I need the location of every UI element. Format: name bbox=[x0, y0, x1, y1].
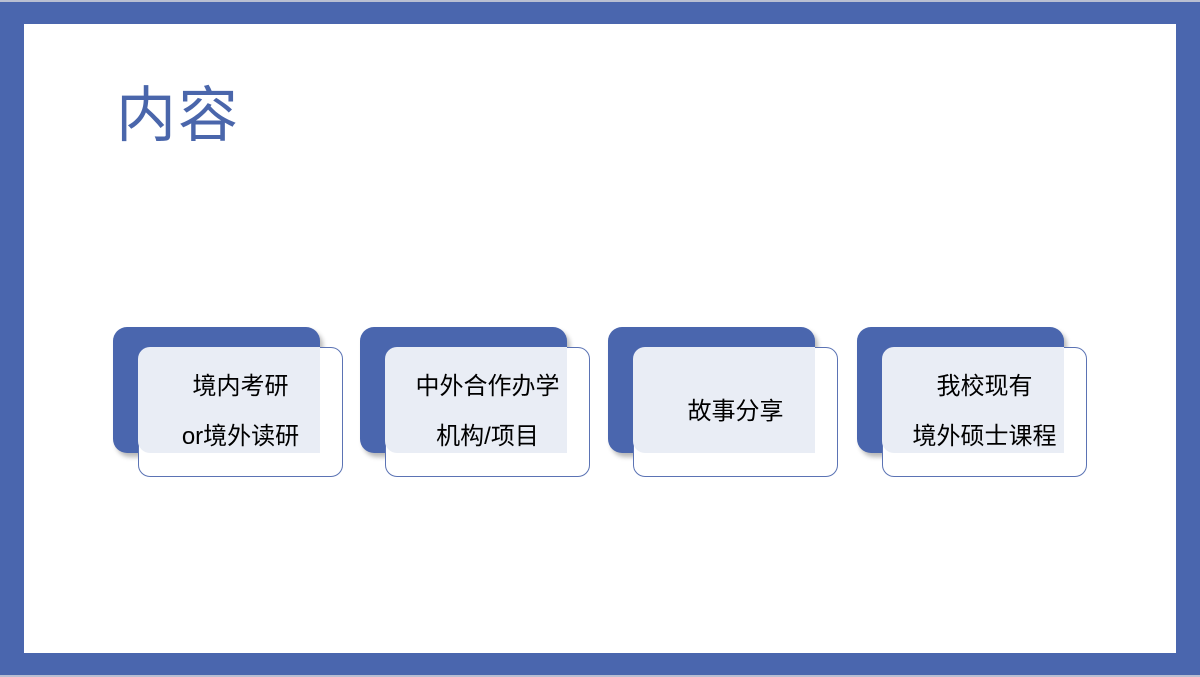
agenda-card-label-line: or境外读研 bbox=[182, 425, 299, 449]
agenda-card-label: 我校现有境外硕士课程 bbox=[882, 347, 1087, 477]
agenda-card-label-line: 机构/项目 bbox=[436, 425, 539, 449]
agenda-card-label: 故事分享 bbox=[633, 347, 838, 477]
agenda-card-label: 中外合作办学机构/项目 bbox=[385, 347, 590, 477]
agenda-card-label-line: 境外硕士课程 bbox=[913, 425, 1057, 449]
agenda-card-label-line: 故事分享 bbox=[688, 400, 784, 424]
agenda-card-row: 境内考研or境外读研中外合作办学机构/项目故事分享我校现有境外硕士课程 bbox=[0, 0, 1200, 677]
agenda-card-label-line: 中外合作办学 bbox=[416, 375, 560, 399]
agenda-card-label: 境内考研or境外读研 bbox=[138, 347, 343, 477]
slide-canvas: 内容 境内考研or境外读研中外合作办学机构/项目故事分享我校现有境外硕士课程 bbox=[0, 0, 1200, 677]
agenda-card-label-line: 境内考研 bbox=[193, 375, 289, 399]
agenda-card-label-line: 我校现有 bbox=[937, 375, 1033, 399]
agenda-card[interactable]: 故事分享 bbox=[608, 327, 840, 479]
agenda-card[interactable]: 中外合作办学机构/项目 bbox=[360, 327, 592, 479]
agenda-card[interactable]: 我校现有境外硕士课程 bbox=[857, 327, 1089, 479]
agenda-card[interactable]: 境内考研or境外读研 bbox=[113, 327, 345, 479]
